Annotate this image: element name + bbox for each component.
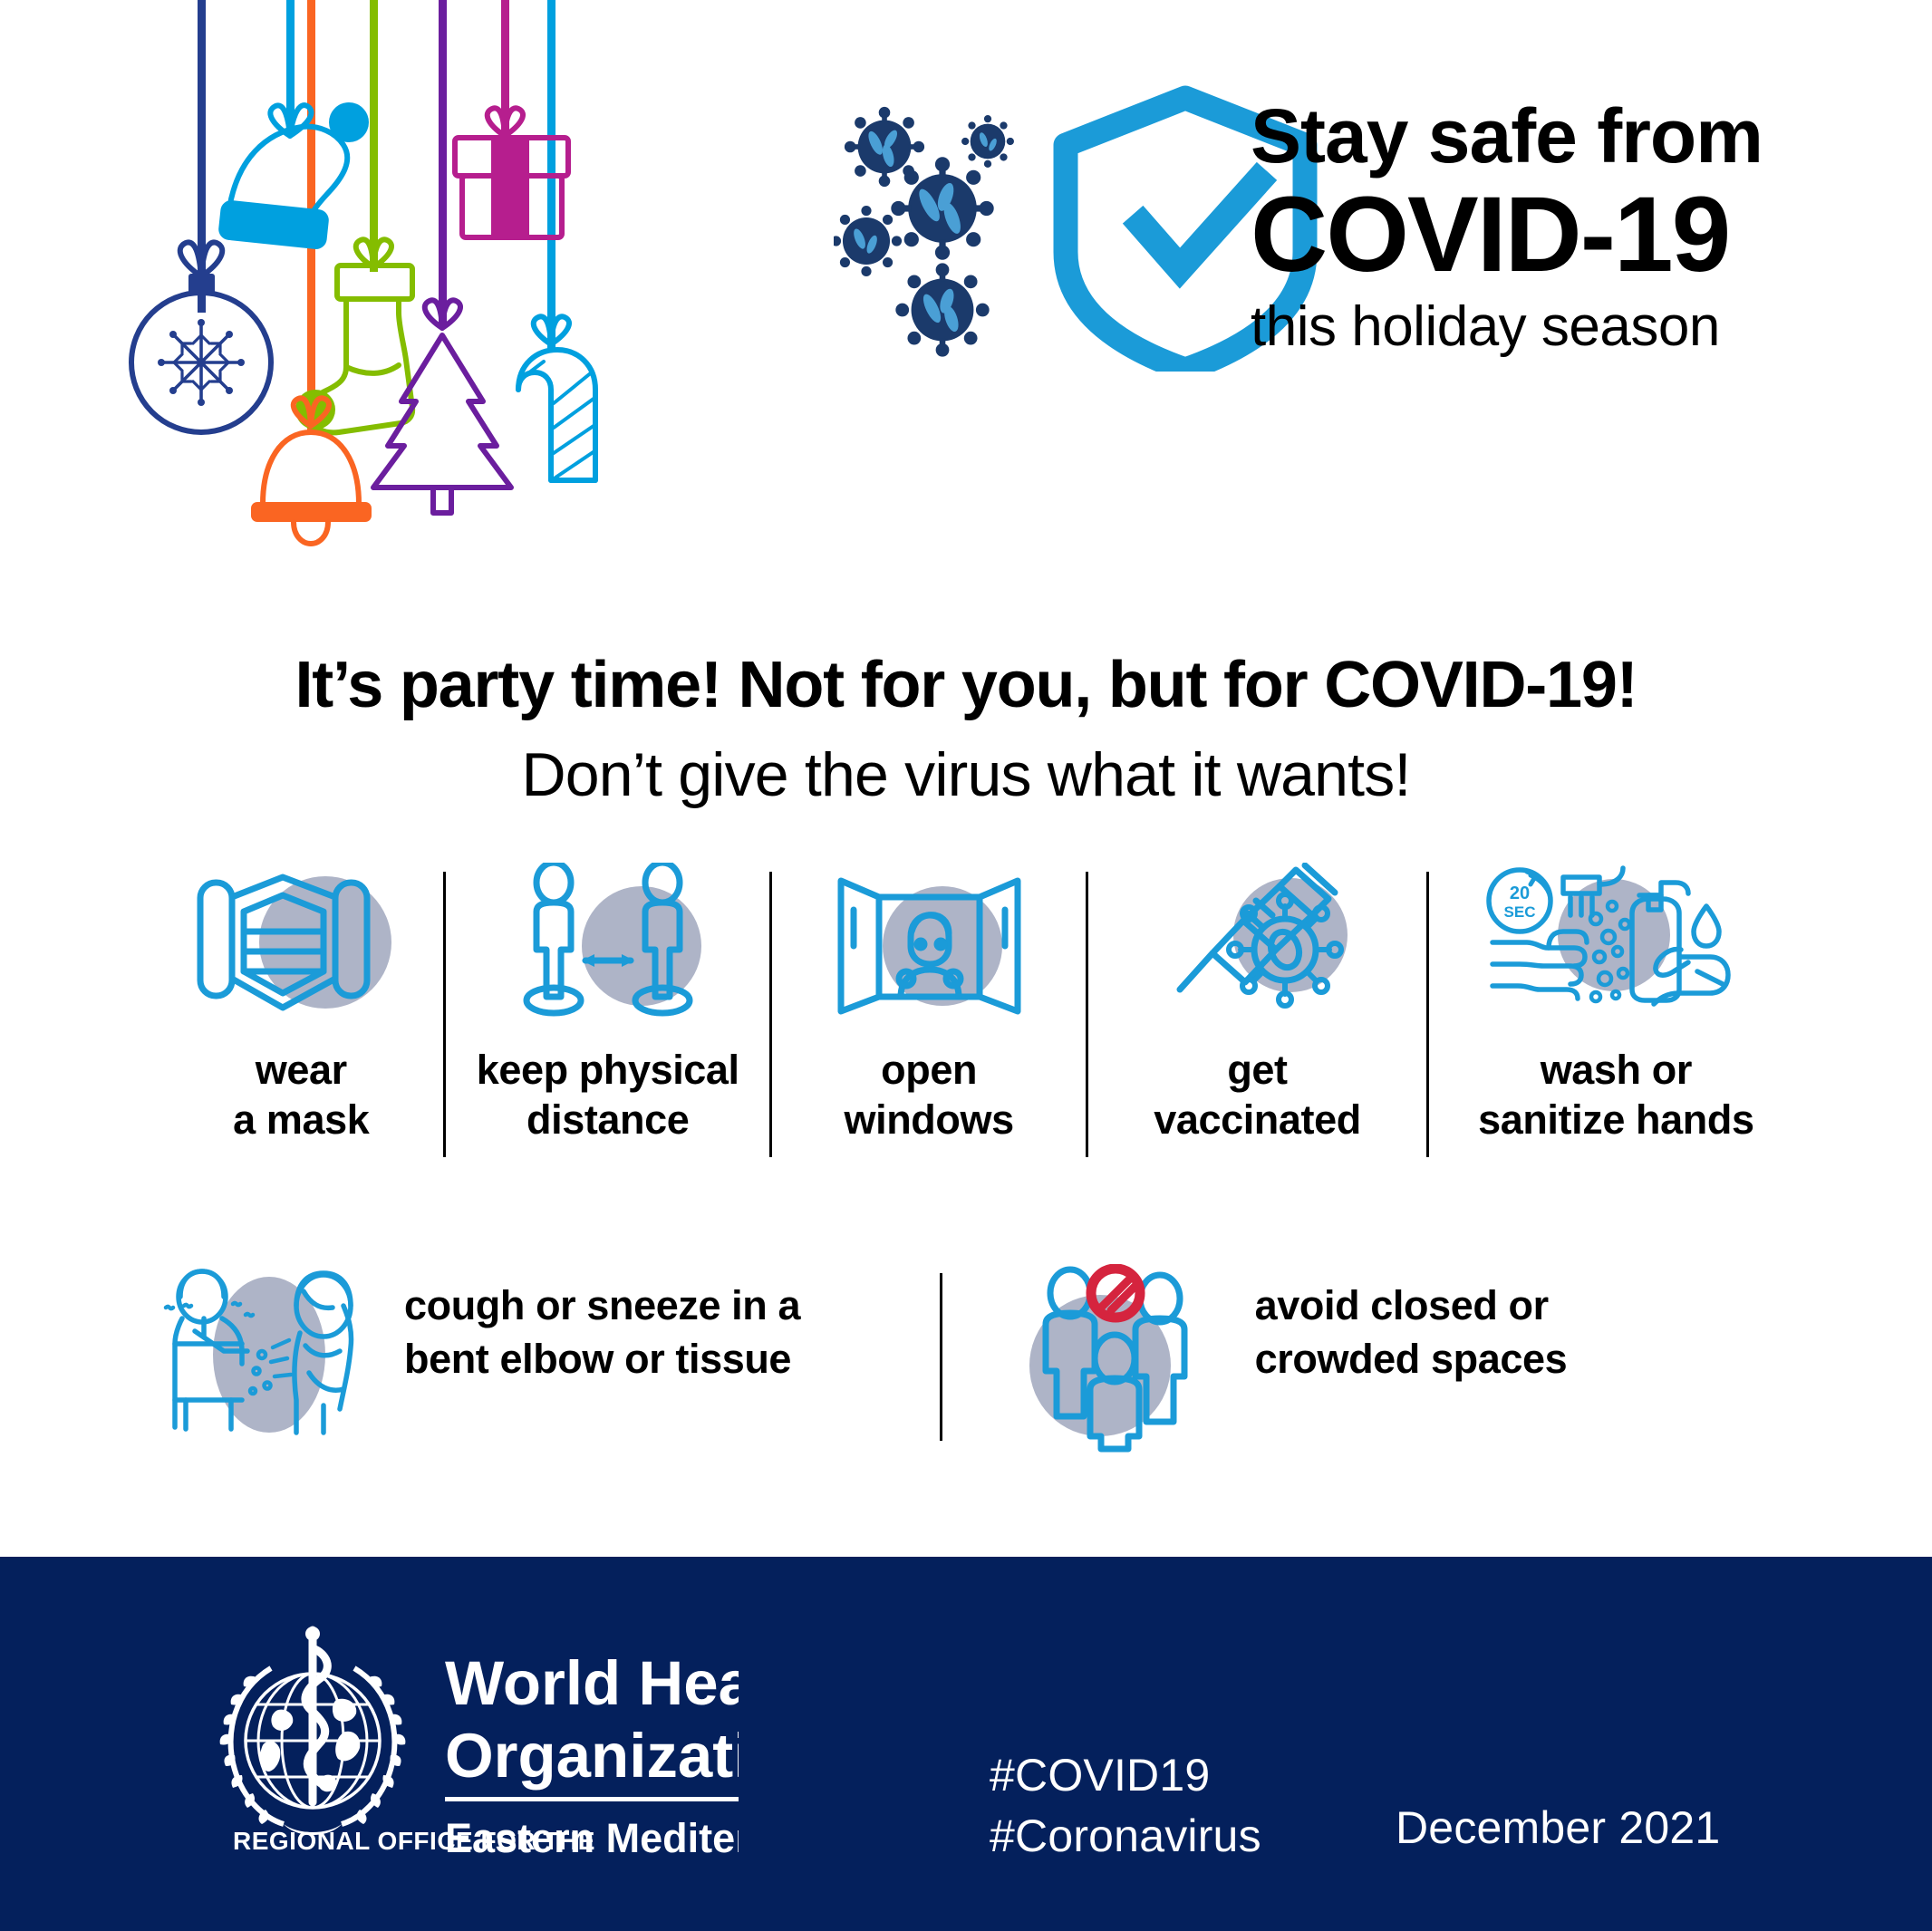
title-covid-19: COVID-19 <box>1251 178 1903 293</box>
christmas-tree-ornament <box>373 300 511 513</box>
footer-bar: World Health Organization REGIONAL OFFIC… <box>0 1557 1932 1931</box>
measure-avoid-crowded-spaces: avoid closed or crowded spaces <box>1009 1264 1803 1445</box>
headline-main: It’s party time! Not for you, but for CO… <box>0 649 1932 722</box>
measure-label: wear a mask <box>233 1046 369 1145</box>
physical-distance-icon <box>504 872 712 1017</box>
measure-get-vaccinated: get vaccinated <box>1088 872 1425 1171</box>
who-region-name: Eastern Mediterranean <box>445 1815 739 1860</box>
headline-block: It’s party time! Not for you, but for CO… <box>0 649 1932 809</box>
who-org-line2: Organization <box>445 1721 739 1791</box>
vaccine-syringe-icon <box>1158 872 1357 1017</box>
wash-hands-icon: 20 SEC <box>1480 872 1752 1017</box>
hashtag-covid19: #COVID19 <box>990 1745 1261 1806</box>
headline-sub: Don’t give the virus what it wants! <box>0 740 1932 809</box>
open-window-icon <box>832 872 1027 1017</box>
measures-row-primary: wear a mask <box>159 872 1803 1171</box>
measure-label: keep physical distance <box>477 1046 739 1145</box>
measure-cough-or-sneeze: cough or sneeze in a bent elbow or tissu… <box>159 1264 940 1445</box>
hashtag-coronavirus: #Coronavirus <box>990 1806 1261 1867</box>
wash-timer-number: 20 <box>1510 883 1530 903</box>
bauble-snowflake-ornament <box>131 242 271 432</box>
measure-label: wash or sanitize hands <box>1478 1046 1753 1145</box>
measures-row-secondary: cough or sneeze in a bent elbow or tissu… <box>159 1264 1803 1472</box>
hashtags-block: #COVID19 #Coronavirus <box>990 1745 1261 1867</box>
measure-keep-physical-distance: keep physical distance <box>446 872 768 1171</box>
measure-wear-a-mask: wear a mask <box>159 872 443 1171</box>
who-emblem-icon <box>220 1627 406 1835</box>
measure-wash-sanitize-hands: 20 SEC wash or sanitize hands <box>1429 872 1803 1171</box>
holiday-ornaments-illustration <box>0 0 816 562</box>
publication-date: December 2021 <box>1396 1801 1720 1854</box>
title-stay-safe: Stay safe from <box>1251 98 1903 174</box>
divider-5 <box>940 1273 942 1441</box>
avoid-crowds-icon <box>1009 1264 1232 1445</box>
virus-particles-icon <box>834 107 1014 357</box>
wash-timer-unit: SEC <box>1504 903 1536 921</box>
bell-ornament <box>251 398 372 544</box>
header-title-block: Stay safe from COVID-19 this holiday sea… <box>1251 98 1903 359</box>
candy-cane-ornament <box>518 316 595 480</box>
title-holiday: this holiday season <box>1251 296 1903 358</box>
who-org-line1: World Health <box>445 1648 739 1718</box>
measure-label: open windows <box>845 1046 1014 1145</box>
cough-elbow-icon <box>159 1264 381 1445</box>
measure-label: cough or sneeze in a bent elbow or tissu… <box>404 1279 800 1386</box>
face-mask-icon <box>188 872 414 1017</box>
measure-label: avoid closed or crowded spaces <box>1255 1279 1568 1386</box>
santa-hat-ornament <box>217 102 369 250</box>
measure-label: get vaccinated <box>1154 1046 1361 1145</box>
who-logo: World Health Organization REGIONAL OFFIC… <box>177 1598 739 1860</box>
measure-open-windows: open windows <box>772 872 1086 1171</box>
no-entry-icon <box>1091 1269 1140 1318</box>
